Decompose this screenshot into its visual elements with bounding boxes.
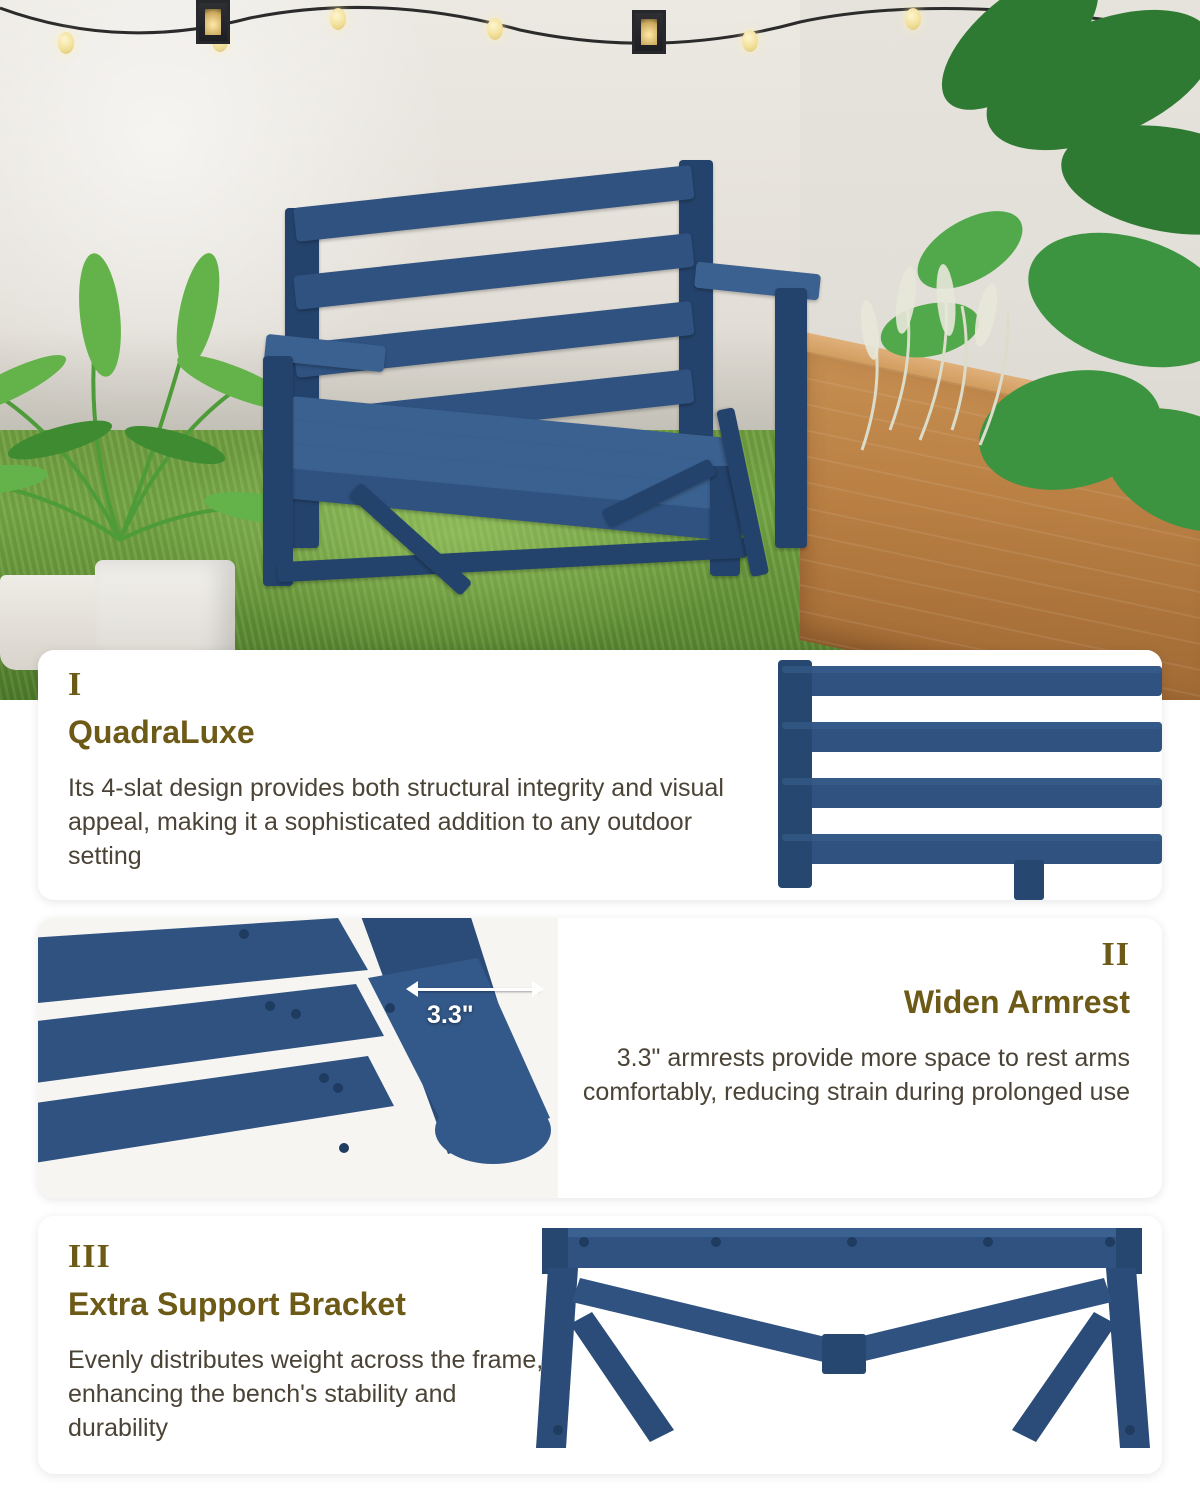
product-feature-page: I QuadraLuxe Its 4-slat design provides …: [0, 0, 1200, 1500]
light-bulb-icon: [742, 30, 758, 52]
feature-3-text: III Extra Support Bracket Evenly distrib…: [68, 1240, 558, 1445]
feature-card-1: I QuadraLuxe Its 4-slat design provides …: [38, 650, 1162, 900]
armrest-dimension-label: 3.3": [427, 1001, 474, 1030]
feature-2-title: Widen Armrest: [570, 984, 1130, 1021]
feature-2-text: II Widen Armrest 3.3" armrests provide m…: [570, 938, 1130, 1109]
dimension-arrow-left: [406, 981, 418, 997]
feature-card-2: 3.3" II Widen Armrest 3.3" armrests prov…: [38, 918, 1162, 1198]
lantern-icon: [632, 10, 666, 54]
dimension-arrow-right: [532, 981, 544, 997]
feature-3-image: [522, 1216, 1162, 1474]
dimension-arrow-line: [416, 988, 540, 991]
lantern-icon: [196, 0, 230, 44]
feature-2-body: 3.3" armrests provide more space to rest…: [570, 1041, 1130, 1109]
feature-card-3: III Extra Support Bracket Evenly distrib…: [38, 1216, 1162, 1474]
feature-3-numeral: III: [68, 1240, 558, 1274]
feature-1-image: [772, 650, 1162, 900]
feature-3-body: Evenly distributes weight across the fra…: [68, 1343, 558, 1445]
feature-1-body: Its 4-slat design provides both structur…: [68, 771, 768, 873]
light-bulb-icon: [330, 8, 346, 30]
bench-product: [255, 150, 835, 570]
feature-2-numeral: II: [570, 938, 1130, 972]
light-bulb-icon: [58, 32, 74, 54]
feature-1-title: QuadraLuxe: [68, 714, 768, 751]
feature-3-title: Extra Support Bracket: [68, 1286, 558, 1323]
feature-2-image: 3.3": [38, 918, 558, 1198]
feature-1-numeral: I: [68, 668, 768, 702]
hero-product-photo: [0, 0, 1200, 700]
feature-1-text: I QuadraLuxe Its 4-slat design provides …: [68, 668, 768, 873]
light-bulb-icon: [487, 18, 503, 40]
